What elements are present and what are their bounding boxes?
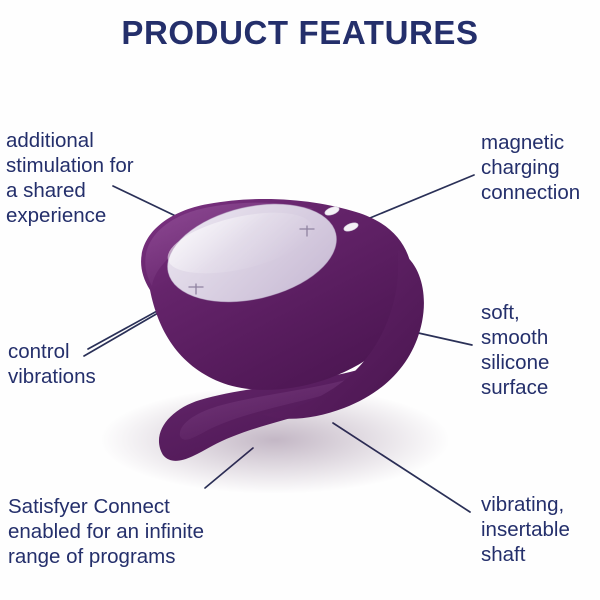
callout-vibrating-insertable-shaft: vibrating, insertable shaft xyxy=(481,492,600,567)
leader-line-magnetic-charging xyxy=(353,175,474,225)
callout-control-vibrations: control vibrations xyxy=(8,339,188,389)
callout-magnetic-charging: magnetic charging connection xyxy=(481,130,600,205)
product-features-infographic: PRODUCT FEATURES xyxy=(0,0,600,600)
callout-additional-stimulation: additional stimulation for a shared expe… xyxy=(6,128,211,228)
callout-soft-smooth-silicone: soft, smooth silicone surface xyxy=(481,300,600,400)
callout-satisfyer-connect: Satisfyer Connect enabled for an infinit… xyxy=(8,494,278,569)
